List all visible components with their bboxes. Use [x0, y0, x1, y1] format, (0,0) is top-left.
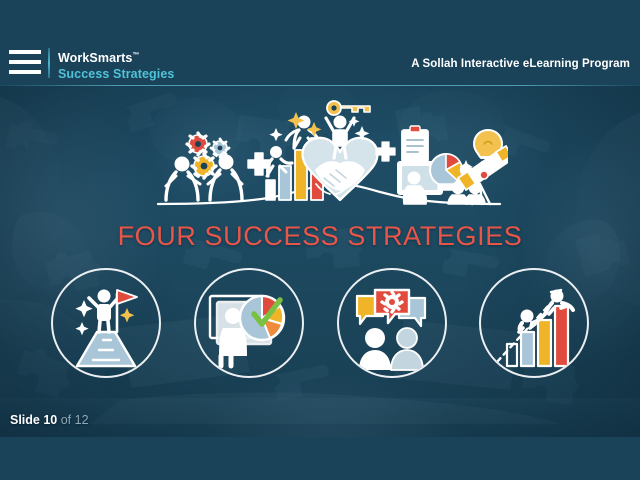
strategy-icons-row [0, 268, 640, 378]
brand-block: WorkSmarts™ Success Strategies [58, 48, 174, 82]
hero-illustration [148, 92, 508, 210]
sparkle-icon [269, 128, 282, 141]
plus-sign-icon [376, 142, 395, 161]
slide-total-label: of 12 [61, 413, 89, 427]
trademark-symbol: ™ [132, 52, 139, 59]
presenter-pie-chart-checkmark-icon [196, 270, 302, 376]
header-bar: WorkSmarts™ Success Strategies A Sollah … [0, 0, 640, 86]
brand-title-text: WorkSmarts [58, 51, 132, 65]
slide-container: WorkSmarts™ Success Strategies A Sollah … [0, 0, 640, 480]
clipboard-icon [402, 126, 428, 162]
footer-band [0, 437, 640, 480]
hamburger-menu-icon[interactable] [9, 50, 41, 76]
key-icon [327, 101, 370, 115]
slide-counter: Slide 10 of 12 [10, 413, 89, 427]
strategy-circle-two[interactable] [194, 268, 304, 378]
two-people-speech-bubbles-gear-icon [339, 270, 445, 376]
brand-title: WorkSmarts™ [58, 48, 174, 66]
brand-subtitle: Success Strategies [58, 66, 174, 82]
program-label: A Sollah Interactive eLearning Program [411, 58, 630, 70]
strategy-circle-four[interactable] [479, 268, 589, 378]
strategy-circle-one[interactable] [51, 268, 161, 378]
gears-teamwork-icon [166, 133, 242, 200]
page-title: FOUR SUCCESS STRATEGIES [0, 221, 640, 252]
slide-current-label: Slide 10 [10, 413, 57, 427]
people-climbing-bar-chart-icon [481, 270, 587, 376]
person-flag-road-icon [53, 270, 159, 376]
header-separator-line [0, 85, 640, 86]
strategy-circle-three[interactable] [337, 268, 447, 378]
header-divider [48, 48, 50, 78]
